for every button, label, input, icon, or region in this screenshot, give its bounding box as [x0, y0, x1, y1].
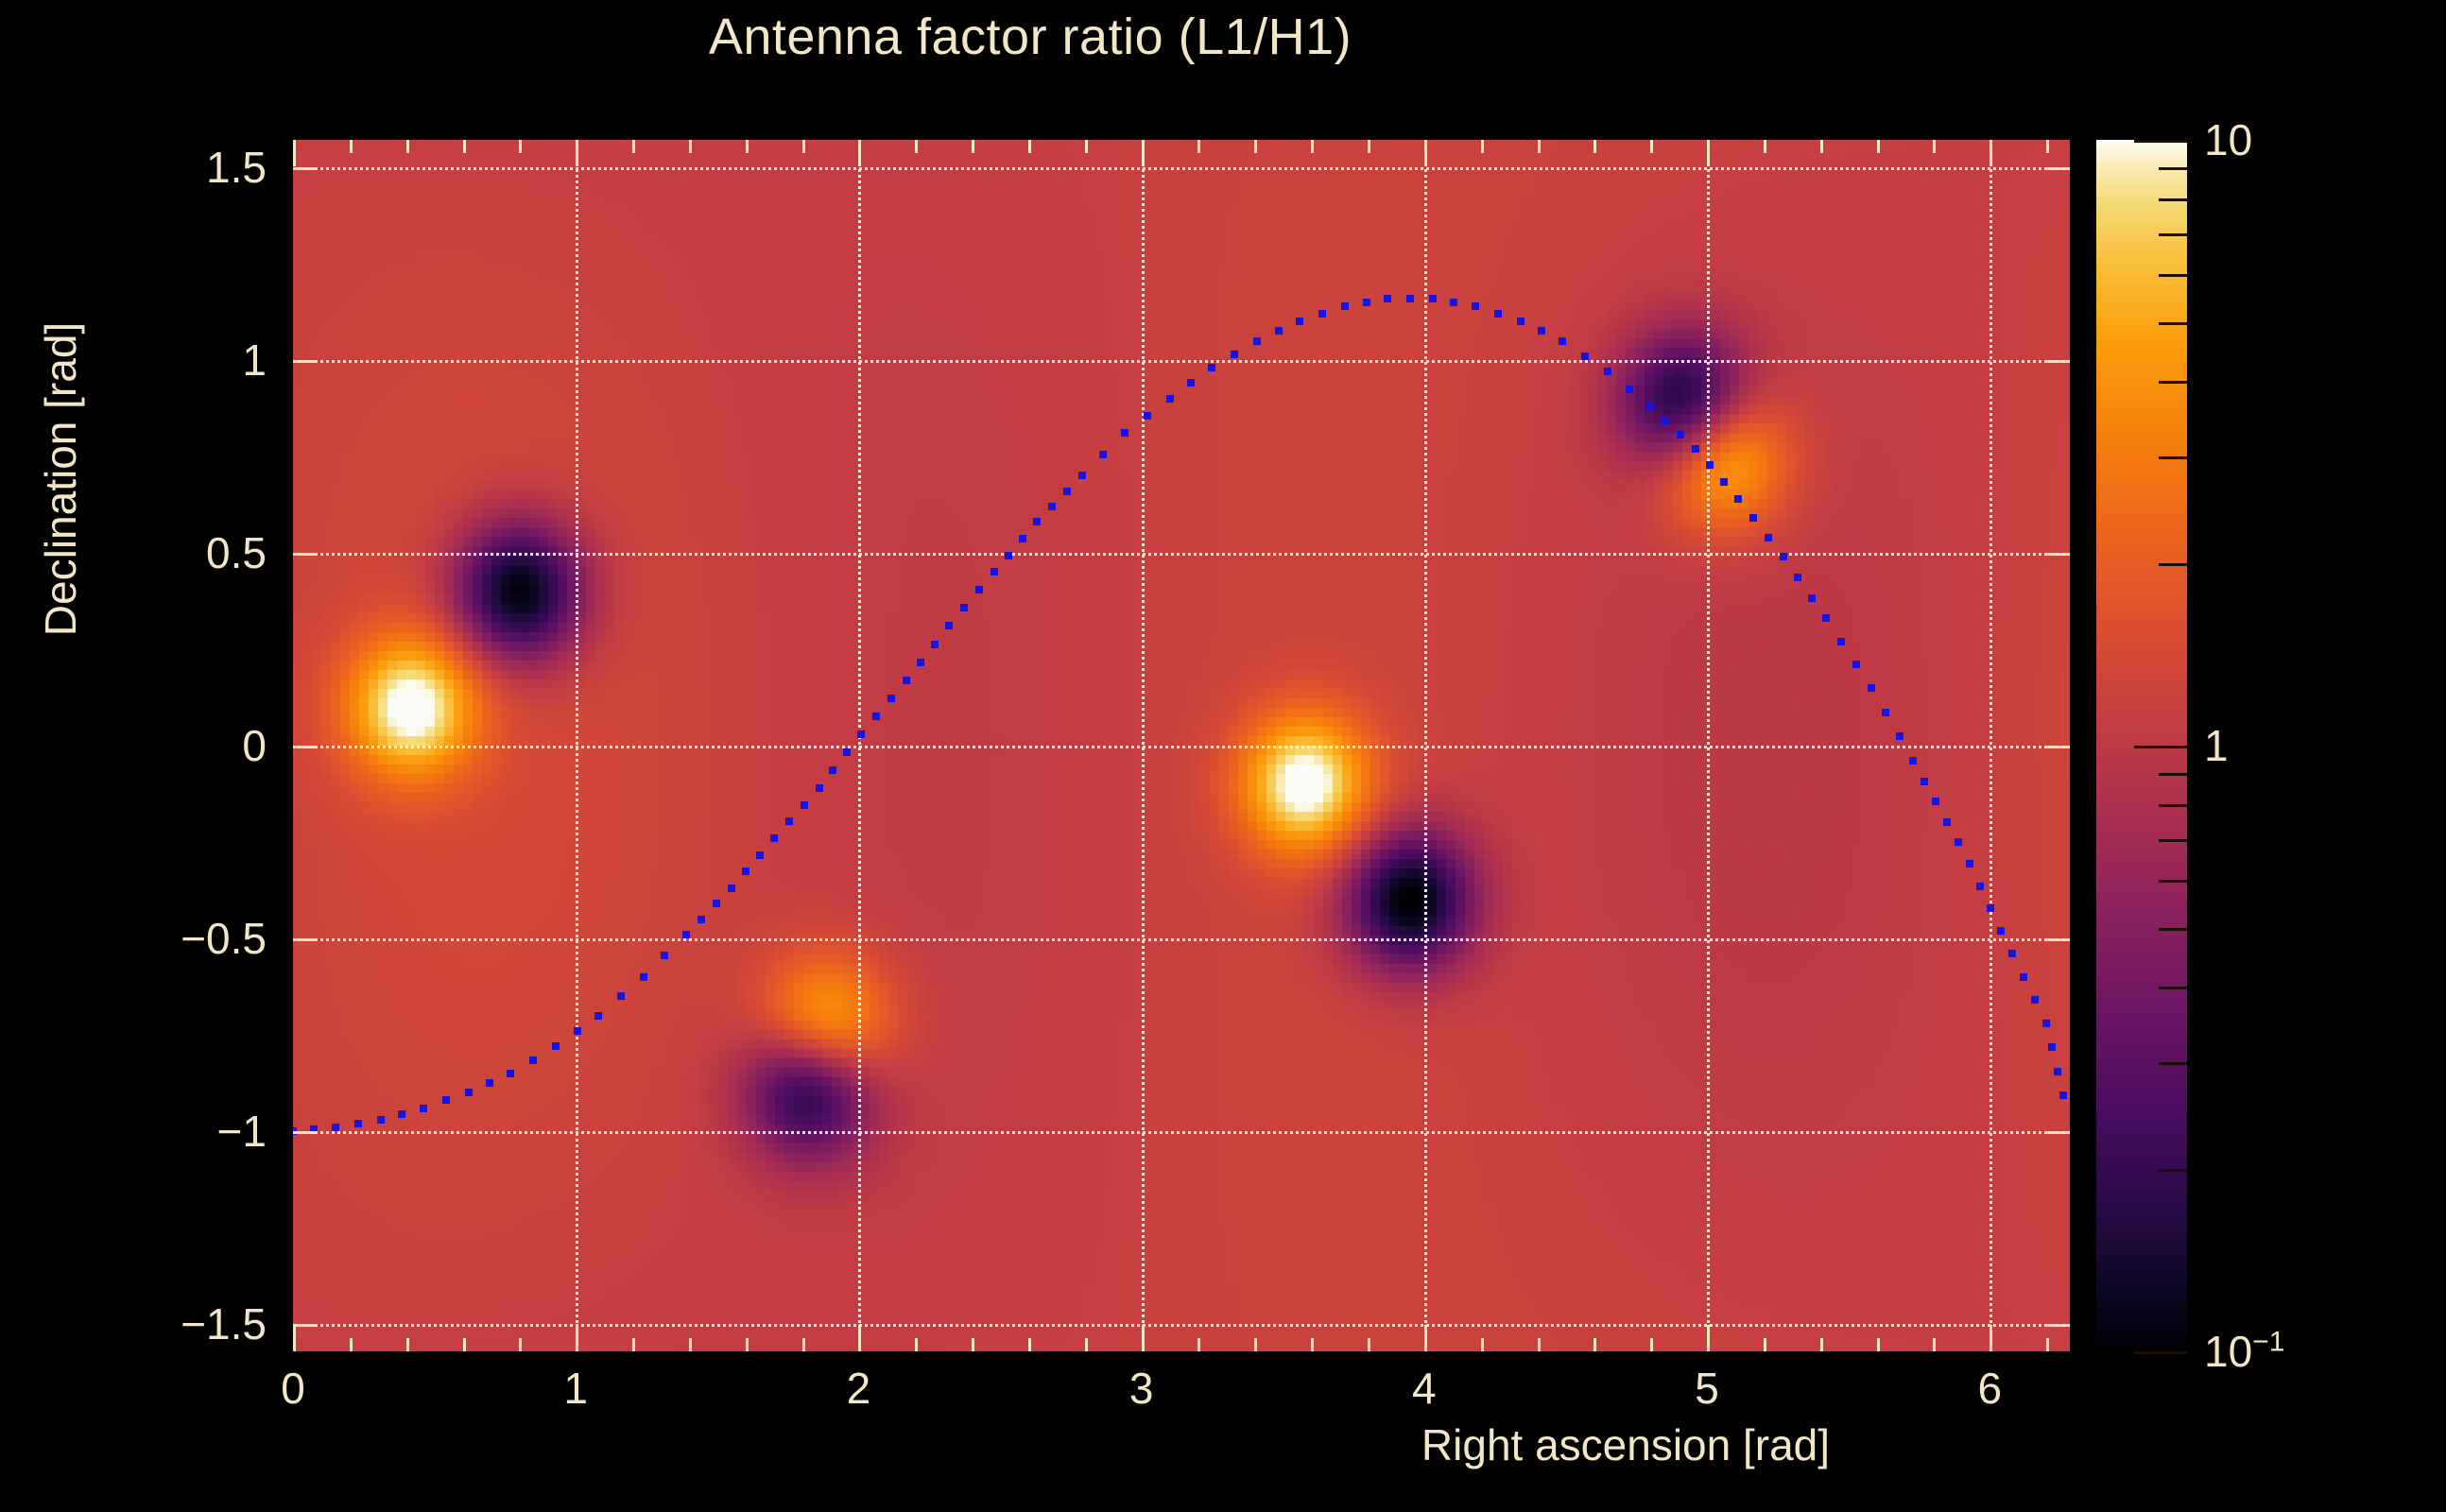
x-tick-minor-top: [1593, 140, 1596, 153]
null-curve-marker: [872, 713, 880, 720]
x-tick-minor-top: [1877, 140, 1880, 153]
null-curve-marker: [2008, 950, 2016, 957]
null-curve-marker: [1921, 778, 1928, 785]
y-tick-label: −1: [217, 1106, 267, 1157]
x-tick-minor: [1593, 1338, 1596, 1351]
y-tick-label: 1.5: [206, 142, 267, 193]
y-tick-major: [293, 360, 318, 363]
null-curve-marker: [1780, 553, 1787, 560]
null-curve-marker: [829, 766, 836, 774]
x-tick-major-top: [1424, 140, 1427, 166]
x-tick-major-top: [858, 140, 861, 166]
null-curve-marker: [1275, 327, 1283, 335]
null-curve-marker: [1296, 318, 1303, 325]
null-curve-marker: [640, 973, 647, 981]
y-tick-label: −1.5: [181, 1298, 267, 1349]
null-curve-marker: [1099, 451, 1107, 458]
null-curve-marker: [661, 952, 668, 959]
null-curve-marker: [1997, 927, 2005, 935]
x-tick-major: [1424, 1325, 1427, 1351]
null-curve-marker: [1187, 379, 1195, 387]
null-curve-marker: [1019, 535, 1026, 542]
y-tick-major-right: [2045, 746, 2070, 748]
x-tick-minor-top: [1368, 140, 1370, 153]
null-curve-marker: [594, 1012, 602, 1020]
y-tick-label: −0.5: [181, 913, 267, 964]
null-curve-marker: [960, 604, 968, 611]
null-curve-marker: [1987, 904, 1994, 912]
null-curve-marker: [465, 1089, 473, 1096]
null-curve-marker: [1706, 461, 1714, 469]
x-tick-minor-top: [1650, 140, 1653, 153]
y-tick-major-right: [2045, 360, 2070, 363]
null-curve-marker: [420, 1105, 427, 1112]
heatmap-image: [293, 140, 2070, 1351]
null-curve-marker: [2059, 1091, 2067, 1099]
x-tick-minor-top: [1254, 140, 1257, 153]
x-tick-label: 1: [563, 1363, 588, 1414]
colorbar-tick-minor: [2159, 198, 2187, 201]
x-tick-minor-top: [1028, 140, 1031, 153]
y-axis-title: Declination [rad]: [35, 148, 86, 810]
x-tick-label: 6: [1977, 1363, 2002, 1414]
null-curve-marker: [945, 622, 953, 629]
null-curve-marker: [1429, 295, 1437, 302]
x-tick-major-top: [1142, 140, 1145, 166]
x-tick-minor: [1481, 1338, 1484, 1351]
x-tick-minor-top: [972, 140, 974, 153]
null-curve-marker: [1406, 295, 1414, 302]
x-tick-major: [1707, 1325, 1710, 1351]
x-tick-minor: [2046, 1338, 2049, 1351]
null-curve-marker: [728, 885, 735, 892]
y-tick-major: [293, 746, 318, 748]
y-tick-label: 0: [242, 720, 267, 771]
x-tick-minor: [972, 1338, 974, 1351]
null-curve-marker: [917, 659, 924, 666]
x-tick-major: [576, 1325, 578, 1351]
null-curve-marker: [1955, 838, 1962, 846]
x-tick-minor-top: [689, 140, 692, 153]
x-tick-minor: [1254, 1338, 1257, 1351]
x-tick-minor-top: [1538, 140, 1541, 153]
null-curve-marker: [377, 1116, 385, 1124]
colorbar-tick-minor: [2159, 233, 2187, 236]
null-curve-marker: [1662, 417, 1669, 424]
x-tick-minor-top: [802, 140, 805, 153]
null-curve-marker: [1734, 495, 1742, 503]
x-tick-label: 5: [1695, 1363, 1719, 1414]
x-tick-minor: [746, 1338, 749, 1351]
null-curve-marker: [552, 1042, 560, 1050]
null-curve-marker: [574, 1027, 581, 1035]
x-tick-minor-top: [350, 140, 353, 153]
null-curve-marker: [903, 677, 910, 684]
x-tick-minor: [519, 1338, 522, 1351]
x-tick-minor: [1197, 1338, 1200, 1351]
x-tick-label: 3: [1129, 1363, 1154, 1414]
null-curve-marker: [1822, 614, 1830, 622]
null-curve-marker: [617, 992, 625, 1000]
x-tick-minor-top: [1481, 140, 1484, 153]
null-curve-marker: [975, 586, 983, 593]
y-tick-major-right: [2045, 553, 2070, 556]
null-curve-marker: [931, 641, 939, 648]
null-curve-marker: [1318, 310, 1326, 318]
null-curve-marker: [682, 931, 690, 938]
x-tick-minor: [350, 1338, 353, 1351]
null-curve-marker: [1749, 514, 1757, 522]
y-tick-major-right: [2045, 167, 2070, 170]
x-tick-minor-top: [1085, 140, 1088, 153]
x-tick-minor-top: [2046, 140, 2049, 153]
null-curve-marker: [398, 1110, 405, 1118]
x-tick-label: 2: [847, 1363, 871, 1414]
null-curve-marker: [1868, 684, 1875, 692]
x-tick-minor: [1877, 1338, 1880, 1351]
x-tick-minor: [689, 1338, 692, 1351]
x-tick-major: [293, 1325, 296, 1351]
y-tick-label: 0.5: [206, 527, 267, 578]
x-tick-minor: [1933, 1338, 1936, 1351]
x-tick-major: [1990, 1325, 1992, 1351]
colorbar-tick-minor: [2159, 880, 2187, 883]
null-curve-marker: [1253, 337, 1261, 345]
colorbar-tick-label: 10: [2204, 114, 2252, 165]
x-axis-title: Right ascension [rad]: [1172, 1419, 2079, 1470]
null-curve-marker: [1720, 478, 1728, 486]
null-curve-marker: [354, 1120, 362, 1127]
x-tick-minor: [1028, 1338, 1031, 1351]
null-curve-marker: [2048, 1043, 2056, 1051]
x-tick-minor-top: [406, 140, 409, 153]
colorbar-tick-minor: [2159, 1062, 2187, 1065]
colorbar-tick-minor: [2159, 928, 2187, 931]
null-curve-marker: [857, 730, 865, 738]
x-tick-minor: [463, 1338, 466, 1351]
null-curve-marker: [1121, 429, 1128, 437]
colorbar-tick-minor: [2159, 563, 2187, 566]
colorbar-tick-minor: [2159, 839, 2187, 842]
x-tick-minor-top: [519, 140, 522, 153]
x-tick-major-top: [576, 140, 578, 166]
null-curve-marker: [507, 1070, 514, 1077]
y-tick-label: 1: [242, 335, 267, 386]
null-curve-marker: [486, 1079, 493, 1087]
null-curve-marker: [1063, 488, 1071, 495]
colorbar-tick-label: 1: [2204, 720, 2229, 771]
null-curve-marker: [785, 817, 793, 825]
colorbar-tick-minor: [2159, 804, 2187, 807]
null-curve-marker: [1005, 552, 1012, 559]
x-tick-major-top: [1990, 140, 1992, 166]
null-curve-marker: [1765, 534, 1772, 541]
colorbar-tick-major: [2134, 746, 2187, 748]
colorbar-tick-minor: [2159, 167, 2187, 170]
chart-canvas: Antenna factor ratio (L1/H1) 1.510.50−0.…: [0, 0, 2446, 1512]
page-title: Antenna factor ratio (L1/H1): [0, 8, 2060, 66]
colorbar-tick-minor: [2159, 274, 2187, 277]
x-tick-minor-top: [1764, 140, 1766, 153]
x-tick-minor: [406, 1338, 409, 1351]
x-tick-minor: [1368, 1338, 1370, 1351]
x-tick-minor: [1085, 1338, 1088, 1351]
null-curve-marker: [2042, 1020, 2050, 1027]
x-tick-minor-top: [1820, 140, 1823, 153]
null-curve-marker: [1604, 368, 1611, 375]
null-curve-marker: [1896, 732, 1903, 740]
y-tick-major: [293, 167, 318, 170]
heatmap-plot-area: [293, 140, 2070, 1351]
null-curve-marker: [1837, 638, 1845, 645]
null-curve-marker: [1808, 594, 1816, 602]
null-curve-marker: [1677, 431, 1684, 438]
colorbar-tick-minor: [2159, 987, 2187, 989]
x-tick-label: 4: [1412, 1363, 1437, 1414]
null-curve-marker: [742, 868, 749, 875]
y-tick-major-right: [2045, 938, 2070, 941]
null-curve-marker: [1472, 302, 1479, 310]
null-curve-marker: [1166, 395, 1174, 403]
null-curve-marker: [1932, 798, 1939, 805]
colorbar-tick-major: [2134, 1351, 2187, 1354]
x-tick-minor: [1311, 1338, 1314, 1351]
x-tick-minor: [1764, 1338, 1766, 1351]
null-curve-marker: [1144, 412, 1151, 420]
null-curve-marker: [1692, 445, 1699, 453]
null-curve-marker: [1966, 860, 1973, 868]
x-tick-minor-top: [632, 140, 635, 153]
x-tick-minor-top: [1933, 140, 1936, 153]
null-curve-marker: [698, 916, 705, 923]
x-tick-minor-top: [463, 140, 466, 153]
null-curve-marker: [756, 851, 764, 859]
colorbar-tick-minor: [2159, 456, 2187, 459]
null-curve-marker: [801, 801, 808, 809]
x-tick-minor: [802, 1338, 805, 1351]
null-curve-marker: [770, 834, 778, 842]
null-curve-marker: [1363, 299, 1370, 306]
null-curve-marker: [1517, 318, 1524, 325]
x-tick-minor: [1538, 1338, 1541, 1351]
null-curve-marker: [713, 900, 720, 907]
null-curve-marker: [1341, 302, 1349, 310]
colorbar-tick-major: [2134, 140, 2187, 143]
y-tick-major-right: [2045, 1324, 2070, 1327]
null-curve-marker: [1852, 661, 1860, 668]
x-tick-minor-top: [1197, 140, 1200, 153]
x-tick-major: [1142, 1325, 1145, 1351]
null-curve-marker: [843, 748, 851, 756]
colorbar-tick-label: 10−1: [2204, 1326, 2284, 1377]
null-curve-marker: [1626, 386, 1633, 393]
y-tick-major: [293, 553, 318, 556]
null-curve-marker: [1494, 310, 1502, 318]
x-tick-minor-top: [915, 140, 918, 153]
null-curve-marker: [1559, 337, 1566, 345]
colorbar-tick-minor: [2159, 322, 2187, 325]
null-curve-marker: [1646, 403, 1654, 410]
x-tick-major-top: [293, 140, 296, 166]
null-curve-marker: [1794, 574, 1801, 581]
x-tick-minor: [632, 1338, 635, 1351]
null-curve-marker: [2020, 973, 2027, 981]
null-curve-marker: [332, 1124, 339, 1131]
null-curve-marker: [1943, 818, 1951, 826]
x-tick-major-top: [1707, 140, 1710, 166]
null-curve-marker: [1538, 327, 1545, 335]
x-tick-minor: [1650, 1338, 1653, 1351]
null-curve-marker: [2031, 996, 2039, 1004]
colorbar-tick-minor: [2159, 381, 2187, 384]
null-curve-marker: [1450, 299, 1457, 306]
x-tick-minor-top: [1311, 140, 1314, 153]
colorbar-tick-minor: [2159, 1169, 2187, 1172]
y-tick-major: [293, 1324, 318, 1327]
null-curve-marker: [1581, 352, 1589, 360]
heatmap-bitmap: [293, 140, 2070, 1351]
x-tick-minor: [1820, 1338, 1823, 1351]
null-curve-marker: [887, 695, 895, 702]
x-tick-minor-top: [746, 140, 749, 153]
null-curve-marker: [1384, 295, 1391, 302]
null-curve-marker: [816, 784, 823, 792]
null-curve-marker: [1976, 883, 1984, 890]
null-curve-marker: [990, 568, 998, 576]
x-tick-minor: [915, 1338, 918, 1351]
null-curve-marker: [1078, 472, 1086, 479]
colorbar-tick-minor: [2159, 773, 2187, 776]
null-curve-marker: [2054, 1068, 2061, 1075]
null-curve-marker: [1033, 518, 1041, 525]
y-tick-major-right: [2045, 1131, 2070, 1134]
x-tick-major: [858, 1325, 861, 1351]
null-curve-marker: [1208, 364, 1215, 371]
null-curve-marker: [442, 1096, 450, 1104]
null-curve-marker: [529, 1057, 537, 1064]
null-curve-marker: [1909, 757, 1917, 765]
null-curve-marker: [1882, 709, 1889, 716]
y-tick-major: [293, 938, 318, 941]
null-curve-marker: [1048, 503, 1056, 510]
x-tick-label: 0: [281, 1363, 305, 1414]
null-curve-marker: [1231, 351, 1238, 358]
y-tick-major: [293, 1131, 318, 1134]
